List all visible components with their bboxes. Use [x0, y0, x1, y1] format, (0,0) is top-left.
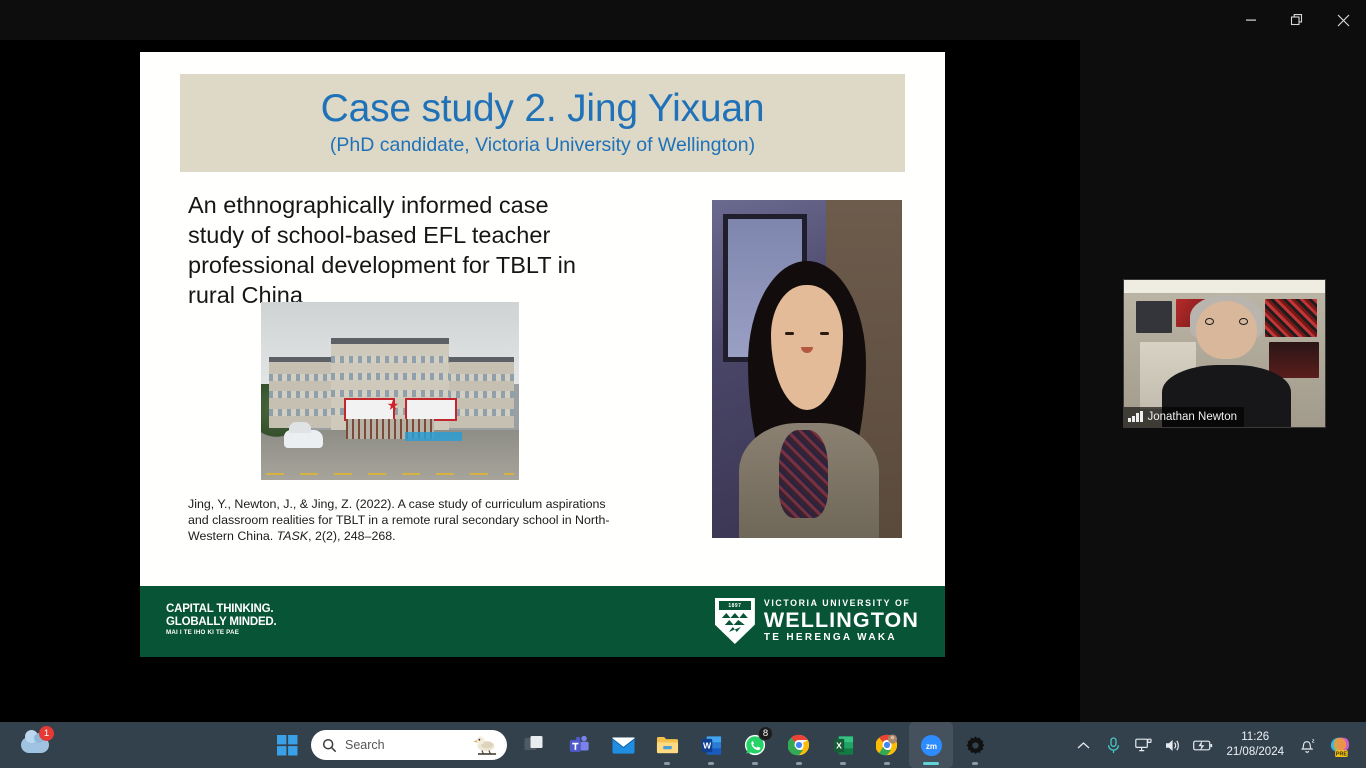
- photo-building-left: [269, 357, 336, 428]
- microphone-icon: [1106, 737, 1121, 754]
- start-button[interactable]: [265, 722, 309, 768]
- tagline-line-2: GLOBALLY MINDED.: [166, 616, 277, 629]
- svg-text:z: z: [1311, 738, 1314, 744]
- wordmark-line-2: WELLINGTON: [764, 610, 919, 632]
- taskbar-item-settings[interactable]: [953, 722, 997, 768]
- university-crest-icon: 1897: [715, 598, 755, 644]
- svg-text:W: W: [702, 740, 711, 750]
- taskbar-center-group: Search: [265, 722, 997, 768]
- signal-bars-icon: [1128, 412, 1143, 422]
- wordmark-line-3: TE HERENGA WAKA: [764, 633, 919, 643]
- teams-icon: [568, 734, 590, 756]
- svg-text:PRE: PRE: [1335, 751, 1346, 757]
- window-titlebar: [0, 0, 1366, 40]
- battery-charging-icon: [1193, 739, 1213, 752]
- copilot-button[interactable]: PRE: [1322, 722, 1356, 768]
- search-placeholder: Search: [345, 738, 465, 752]
- participant-name-text: Jonathan Newton: [1148, 411, 1238, 423]
- video-ceiling: [1124, 280, 1325, 293]
- taskbar-weather-widget[interactable]: 1: [12, 728, 58, 762]
- participant-name-label: Jonathan Newton: [1124, 407, 1244, 427]
- gear-icon: [965, 735, 986, 756]
- university-wordmark: VICTORIA UNIVERSITY OF WELLINGTON TE HER…: [764, 599, 919, 643]
- word-icon: W: [701, 735, 722, 756]
- citation-text-start: Jing, Y., Newton, J., & Jing, Z. (2022).…: [188, 497, 609, 543]
- svg-text:zm: zm: [925, 741, 936, 750]
- slide-subtitle: (PhD candidate, Victoria University of W…: [330, 134, 755, 157]
- taskbar-item-microsoft-excel[interactable]: X: [821, 722, 865, 768]
- excel-icon: X: [833, 735, 854, 756]
- portrait-scarf: [779, 430, 828, 518]
- svg-text:X: X: [836, 740, 842, 750]
- speaker-icon: [1165, 738, 1182, 753]
- volume-button[interactable]: [1158, 722, 1188, 768]
- shared-screen-stage: Case study 2. Jing Yixuan (PhD candidate…: [0, 40, 1080, 722]
- taskbar-item-whatsapp[interactable]: 8: [733, 722, 777, 768]
- notifications-button[interactable]: z: [1292, 722, 1322, 768]
- system-tray: 11:26 21/08/2024 z PRE: [1068, 722, 1356, 768]
- photo-blue-pavement: [405, 432, 462, 441]
- zoom-icon: zm: [920, 734, 943, 757]
- minimize-button[interactable]: [1228, 0, 1274, 40]
- university-tagline: CAPITAL THINKING. GLOBALLY MINDED. MAI I…: [166, 603, 277, 637]
- video-poster-1: [1136, 301, 1172, 333]
- taskbar-item-file-explorer[interactable]: [645, 722, 689, 768]
- whatsapp-badge-count: 8: [758, 726, 773, 741]
- crest-year: 1897: [719, 601, 751, 610]
- restore-button[interactable]: [1274, 0, 1320, 40]
- participant-video-thumbnail[interactable]: Jonathan Newton: [1123, 279, 1326, 428]
- microphone-button[interactable]: [1098, 722, 1128, 768]
- tagline-line-1: CAPITAL THINKING.: [166, 603, 277, 616]
- bell-dnd-icon: z: [1299, 737, 1316, 754]
- photo-car: [284, 430, 323, 448]
- chrome-icon: [788, 734, 810, 756]
- clock-time: 11:26: [1241, 730, 1269, 745]
- chrome-profile-icon: [876, 734, 898, 756]
- slide-body-heading: An ethnographically informed case study …: [188, 190, 588, 310]
- taskbar-clock[interactable]: 11:26 21/08/2024: [1218, 730, 1292, 760]
- cast-icon: [1135, 738, 1152, 753]
- school-building-photo: [261, 302, 519, 480]
- file-explorer-icon: [656, 735, 679, 755]
- mail-icon: [612, 736, 635, 755]
- citation-journal: TASK: [277, 529, 308, 543]
- taskbar-item-zoom[interactable]: zm: [909, 722, 953, 768]
- taskbar-item-microsoft-teams[interactable]: [557, 722, 601, 768]
- zoom-app-window: Case study 2. Jing Yixuan (PhD candidate…: [0, 0, 1366, 722]
- slide-footer-bar: CAPITAL THINKING. GLOBALLY MINDED. MAI I…: [140, 586, 945, 657]
- taskbar-item-google-chrome[interactable]: [777, 722, 821, 768]
- chevron-up-icon: [1077, 741, 1090, 750]
- slide-title-band: Case study 2. Jing Yixuan (PhD candidate…: [180, 74, 905, 172]
- windows-taskbar: 1 Search: [0, 722, 1366, 768]
- slide-citation: Jing, Y., Newton, J., & Jing, Z. (2022).…: [188, 497, 618, 545]
- bird-icon: [473, 734, 499, 756]
- photo-banner-right: [405, 398, 457, 421]
- wordmark-line-1: VICTORIA UNIVERSITY OF: [764, 599, 919, 608]
- taskbar-item-google-chrome-profile[interactable]: [865, 722, 909, 768]
- show-hidden-icons-button[interactable]: [1068, 722, 1098, 768]
- clock-date: 21/08/2024: [1226, 745, 1284, 760]
- taskbar-item-task-view[interactable]: [513, 722, 557, 768]
- slide-title: Case study 2. Jing Yixuan: [321, 89, 765, 130]
- weather-badge-count: 1: [39, 726, 54, 741]
- video-poster-4: [1265, 299, 1317, 337]
- copilot-icon: PRE: [1327, 733, 1352, 758]
- taskbar-item-mail[interactable]: [601, 722, 645, 768]
- presentation-slide: Case study 2. Jing Yixuan (PhD candidate…: [140, 52, 945, 657]
- citation-text-end: , 2(2), 248–268.: [308, 529, 396, 543]
- taskbar-search-box[interactable]: Search: [311, 730, 507, 760]
- cast-display-button[interactable]: [1128, 722, 1158, 768]
- presenter-portrait-photo: [712, 200, 902, 538]
- university-logo: 1897 VICTORIA UNIVERSITY OF WELLINGTON T…: [715, 598, 919, 644]
- tagline-maori: MAI I TE IHO KI TE PAE: [166, 630, 277, 637]
- close-button[interactable]: [1320, 0, 1366, 40]
- search-icon: [322, 738, 337, 753]
- photo-parking-lines: [266, 473, 514, 475]
- taskbar-item-microsoft-word[interactable]: W: [689, 722, 733, 768]
- video-person-head: [1196, 301, 1256, 360]
- photo-banner-left: [344, 398, 396, 421]
- battery-button[interactable]: [1188, 722, 1218, 768]
